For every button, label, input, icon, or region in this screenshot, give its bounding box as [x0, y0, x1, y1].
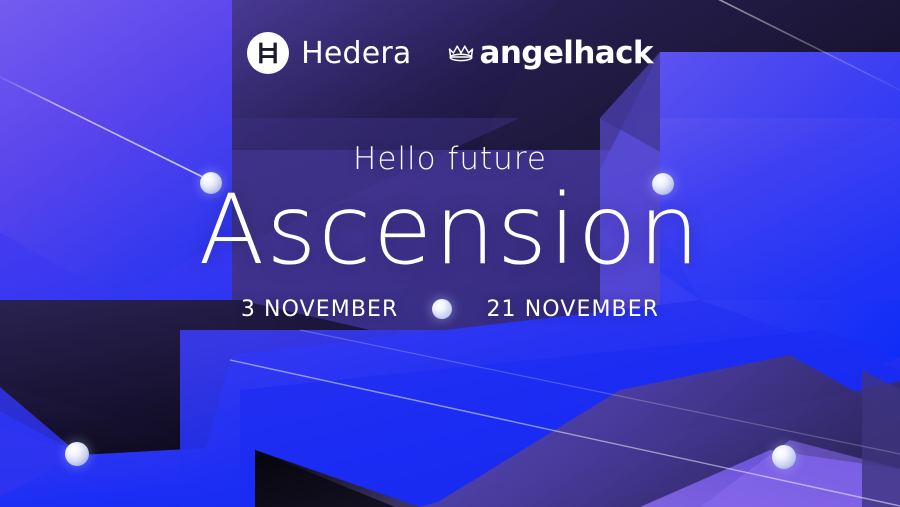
logo-row: Hedera angelhack: [247, 32, 653, 74]
hackathon-promo-banner: Hedera angelhack Hello future Ascension …: [0, 0, 900, 507]
sphere-dot-icon: [432, 299, 452, 319]
crown-icon: [446, 40, 476, 66]
event-start-date: 3 NOVEMBER: [241, 297, 399, 322]
hedera-logo[interactable]: Hedera: [247, 32, 411, 74]
angelhack-logo[interactable]: angelhack: [446, 35, 653, 71]
hedera-wordmark: Hedera: [301, 36, 411, 71]
hedera-h-icon: [247, 32, 289, 74]
banner-content: Hedera angelhack Hello future Ascension …: [0, 0, 900, 507]
hero-tagline: Hello future: [353, 141, 547, 177]
event-end-date: 21 NOVEMBER: [486, 297, 659, 322]
event-dates: 3 NOVEMBER 21 NOVEMBER: [241, 297, 659, 322]
hero-title: Ascension: [199, 179, 702, 283]
angelhack-wordmark: angelhack: [480, 35, 653, 71]
